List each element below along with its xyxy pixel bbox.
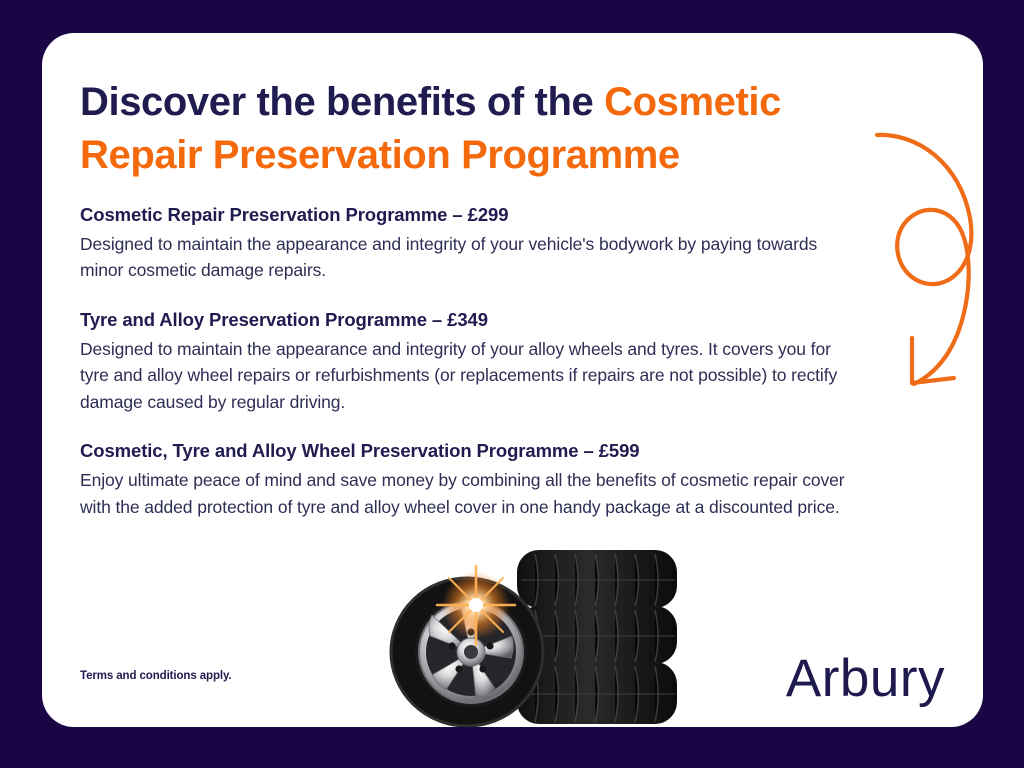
programme-title: Cosmetic Repair Preservation Programme –… <box>80 201 858 229</box>
page-title: Discover the benefits of the Cosmetic Re… <box>80 76 870 182</box>
programme-title: Tyre and Alloy Preservation Programme – … <box>80 306 858 334</box>
programme-list: Cosmetic Repair Preservation Programme –… <box>80 201 858 520</box>
programme-title: Cosmetic, Tyre and Alloy Wheel Preservat… <box>80 437 858 465</box>
page-title-part-plain: Discover the benefits of the <box>80 80 604 124</box>
arbury-logo: Arbury <box>786 652 945 705</box>
programme-description: Designed to maintain the appearance and … <box>80 336 858 416</box>
sparkle-icon <box>437 566 515 645</box>
terms-and-conditions: Terms and conditions apply. <box>80 670 232 682</box>
programme-item: Cosmetic Repair Preservation Programme –… <box>80 201 858 284</box>
programme-description: Designed to maintain the appearance and … <box>80 231 858 284</box>
programme-item: Cosmetic, Tyre and Alloy Wheel Preservat… <box>80 437 858 520</box>
programme-item: Tyre and Alloy Preservation Programme – … <box>80 306 858 416</box>
programme-description: Enjoy ultimate peace of mind and save mo… <box>80 467 858 520</box>
poster-canvas: Discover the benefits of the Cosmetic Re… <box>0 0 1024 768</box>
content-card: Discover the benefits of the Cosmetic Re… <box>42 33 983 727</box>
tyre-stack-image <box>349 542 709 727</box>
